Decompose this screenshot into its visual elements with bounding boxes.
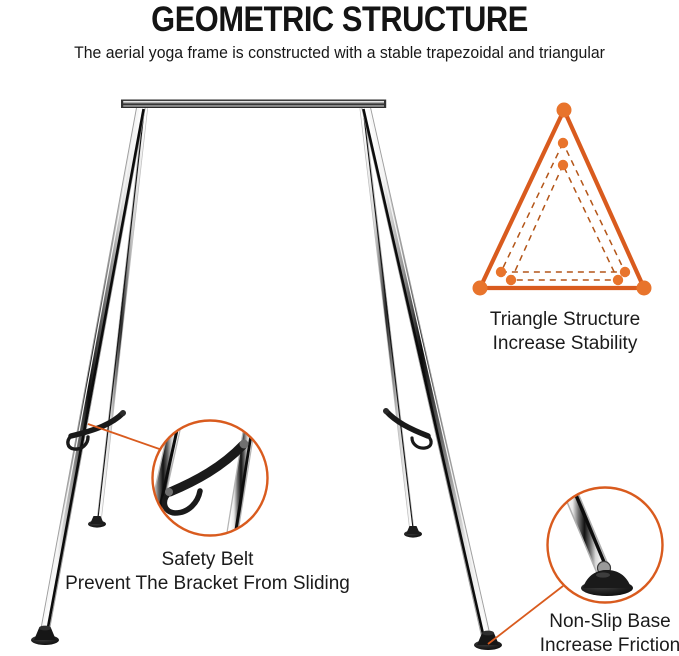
caption-triangle-line1: Triangle Structure [445,308,679,332]
top-bar [121,100,386,109]
caption-base-line2: Increase Friction [500,634,679,656]
triangle-vertex-dot [558,160,568,170]
caption-non-slip-base: Non-Slip Base Increase Friction [500,610,679,656]
foot-rear-left [88,516,106,528]
foot-front-right [474,631,502,650]
caption-triangle-line2: Increase Stability [445,332,679,356]
triangle-vertex-dot [637,281,652,296]
magnifier-safety-belt [88,410,268,548]
caption-belt-line2: Prevent The Bracket From Sliding [20,572,395,596]
triangle-vertex-dot [473,281,488,296]
triangle-vertex-dot [496,267,506,277]
infographic-page: GEOMETRIC STRUCTURE The aerial yoga fram… [0,0,679,656]
foot-rear-right [404,526,422,538]
safety-belt-right [383,408,431,448]
caption-triangle-structure: Triangle Structure Increase Stability [445,308,679,356]
triangle-vertex-dot [620,267,630,277]
rear-right-leg [362,108,413,531]
triangle-vertex-dot [506,275,516,285]
triangle-vertex-dot [558,138,568,148]
triangle-vertex-dot [613,275,623,285]
triangle-structure-graphic [473,103,652,296]
foot-front-left [31,626,59,645]
caption-base-line1: Non-Slip Base [500,610,679,634]
caption-belt-line1: Safety Belt [20,548,395,572]
leader-line-safety-belt [88,424,168,452]
caption-safety-belt: Safety Belt Prevent The Bracket From Sli… [20,548,395,596]
triangle-vertex-dot [557,103,572,118]
